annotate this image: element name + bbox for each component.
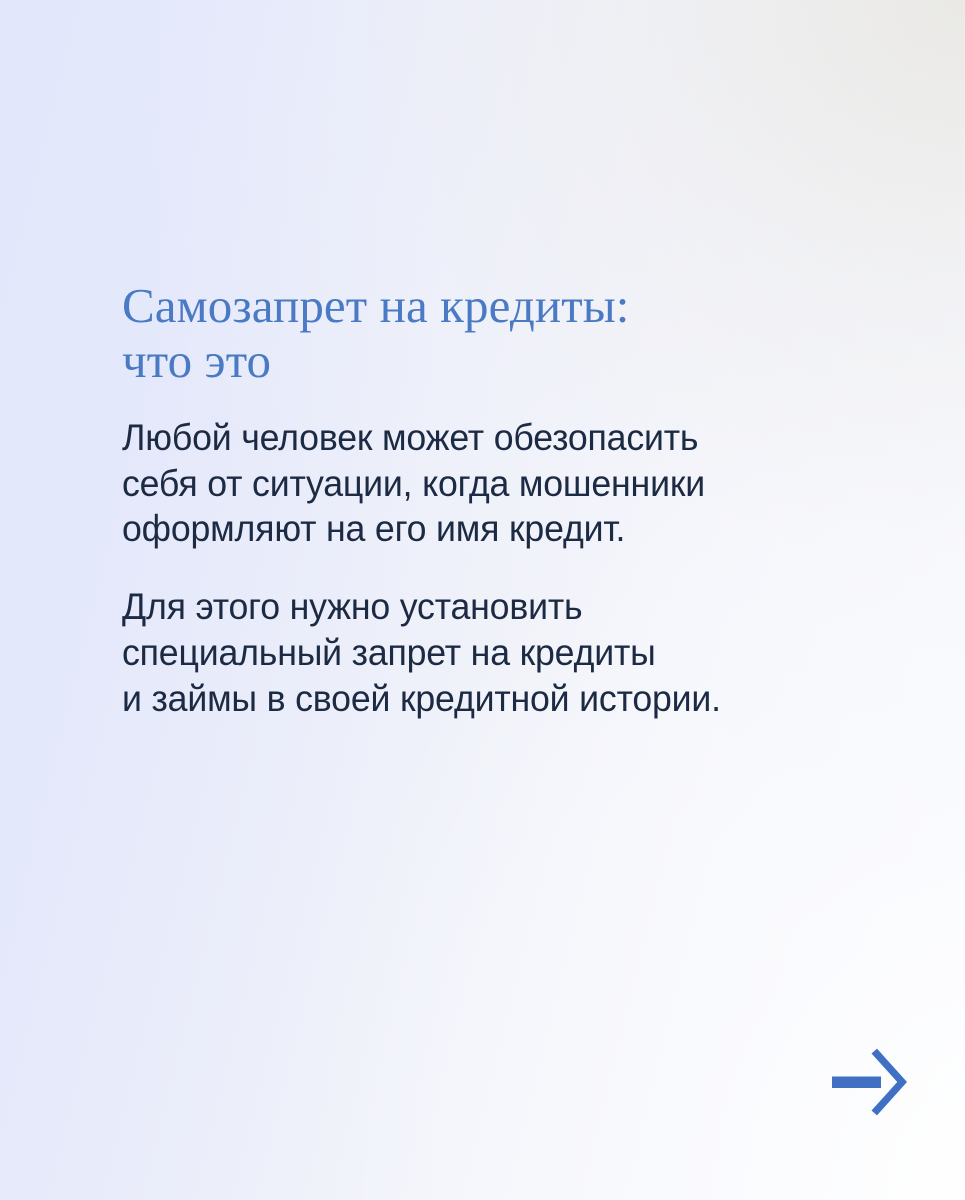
slide-card: Самозапрет на кредиты: что это Любой чел… bbox=[0, 0, 965, 1200]
slide-content: Самозапрет на кредиты: что это Любой чел… bbox=[122, 278, 882, 722]
body-paragraph-1: Любой человек может обезопасить себя от … bbox=[122, 415, 855, 553]
body-paragraph-2: Для этого нужно установить специальный з… bbox=[122, 584, 855, 722]
body-copy: Любой человек может обезопасить себя от … bbox=[122, 389, 882, 722]
arrow-right-icon bbox=[826, 1046, 910, 1118]
next-slide-button[interactable] bbox=[826, 1046, 910, 1118]
page-title: Самозапрет на кредиты: что это bbox=[122, 278, 882, 389]
